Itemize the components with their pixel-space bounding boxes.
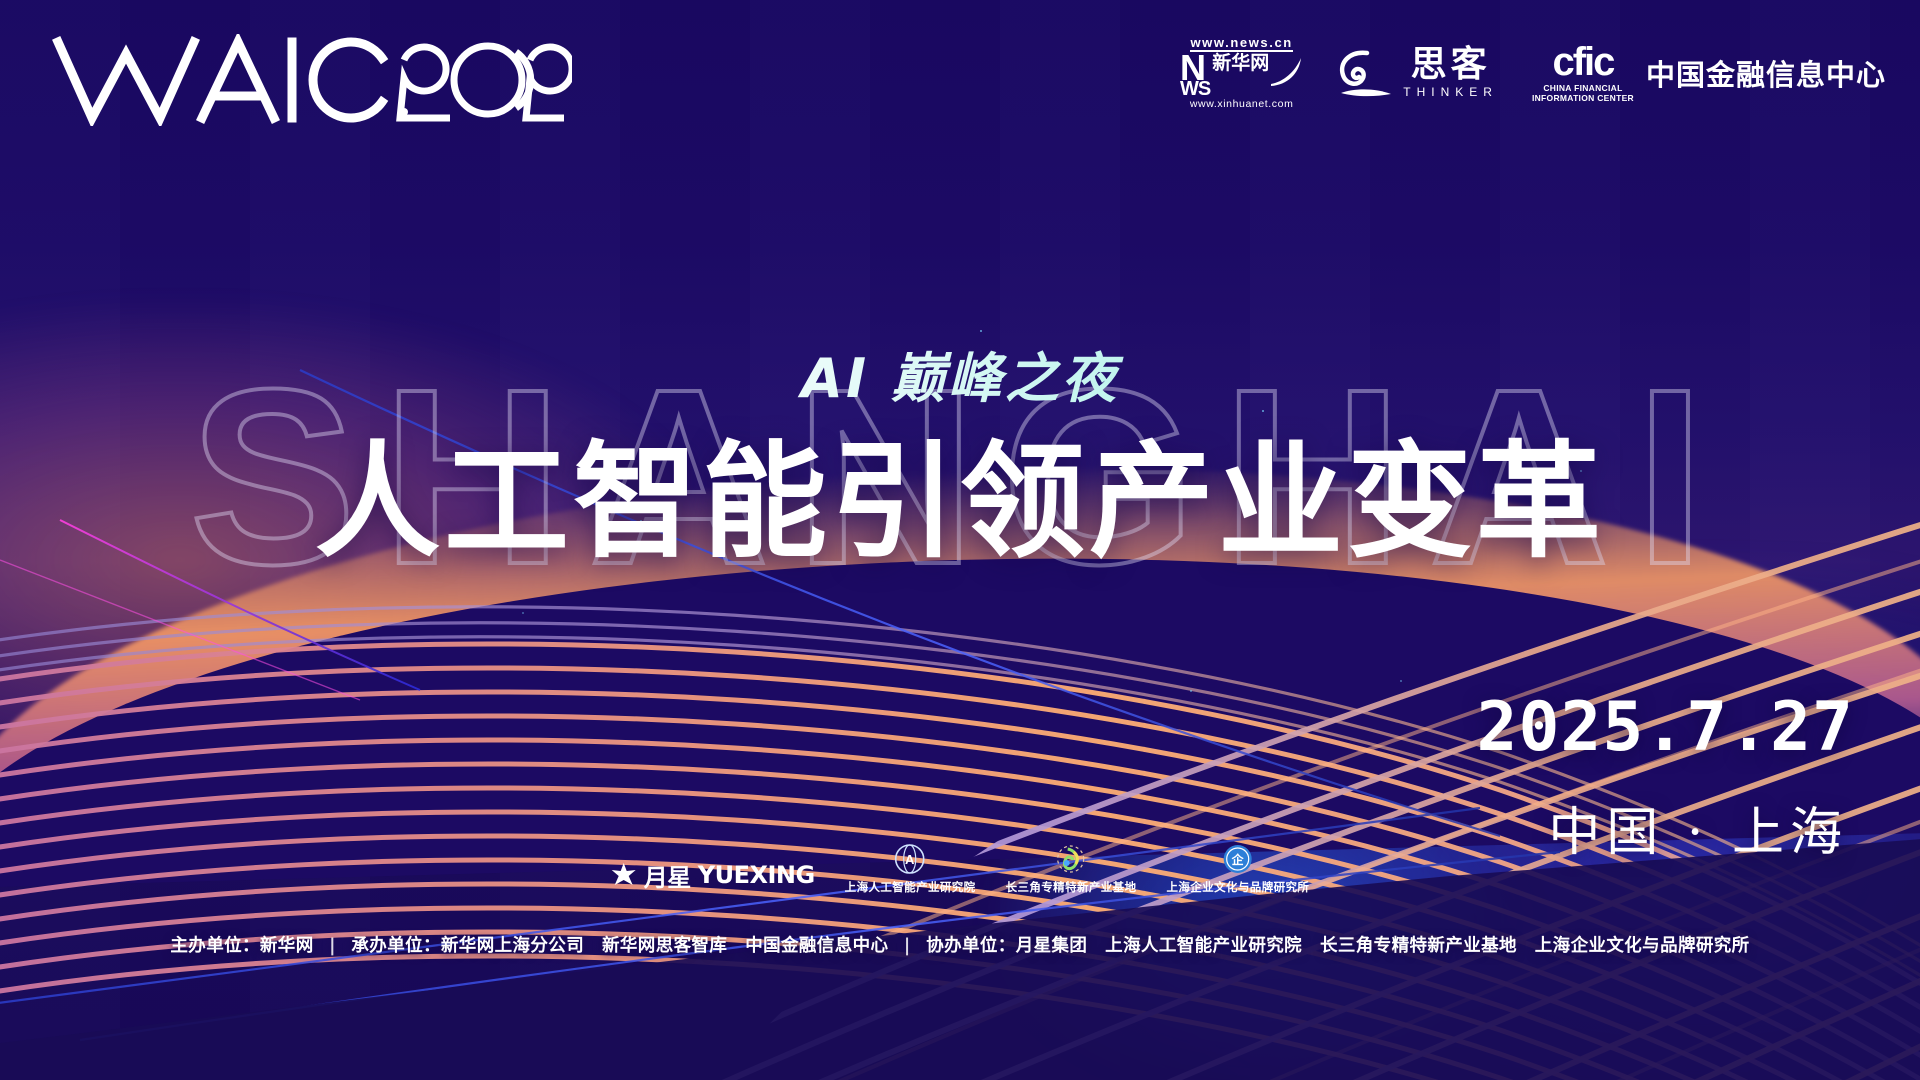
event-headline: 人工智能引领产业变革 [0,400,1920,581]
xinhua-mark-ws: WS [1180,81,1210,97]
event-city: 中国 · 上海 [1548,790,1848,865]
thinker-zh-name: 思客 [1411,47,1491,83]
credit-host-value: 新华网 [260,936,314,956]
ai-globe-icon: A [894,843,926,875]
cfic-wordmark: cfic [1552,42,1613,82]
event-date: 2025.7.27 [1477,688,1854,767]
credit-coorganizer-label: 协办单位： [926,936,1016,956]
header-sponsor-logos: www.news.cn N WS 新华网 www.xinhuanet.com 思… [1180,36,1886,109]
partner-name-yangtze-delta-base: 长三角专精特新产业基地 [1006,879,1137,895]
credit-organizer-label: 承办单位： [351,936,441,956]
yuexing-mark-zh: 月星 [644,858,691,893]
partner-name-shanghai-ai-institute: 上海人工智能产业研究院 [845,879,976,895]
delta-base-icon [1055,843,1087,875]
yuexing-mark-en: YUEXING [698,861,815,889]
xinhua-url-top: www.news.cn [1190,36,1292,52]
credit-coorganizer-values: 月星集团 上海人工智能产业研究院 长三角专精特新产业基地 上海企业文化与品牌研究… [1016,936,1750,956]
cfic-en-line2: INFORMATION CENTER [1532,94,1634,104]
partner-logo-yuexing: 月星YUEXING [611,858,815,895]
sponsor-logo-xinhua-news: www.news.cn N WS 新华网 www.xinhuanet.com [1180,36,1303,109]
poster-canvas: SHANGHAI www.news.cn N [0,0,1920,1080]
partner-logo-strip: 月星YUEXING A 上海人工智能产业研究院 [611,842,1310,895]
sponsor-logo-thinker: 思客 THINKER [1337,47,1498,99]
credit-separator-1: | [329,936,336,956]
xinhua-zh-name: 新华网 [1212,54,1269,73]
partner-logo-yangtze-delta-base: 长三角专精特新产业基地 [1006,842,1137,895]
cfic-zh-name: 中国金融信息中心 [1646,52,1886,94]
sponsor-logo-cfic: cfic CHINA FINANCIAL INFORMATION CENTER … [1532,42,1886,104]
xinhua-url-bottom: www.xinhuanet.com [1190,99,1294,110]
credit-separator-2: | [904,936,911,956]
thinker-en-name: THINKER [1403,86,1498,98]
footer-credits: 主办单位：新华网 | 承办单位：新华网上海分公司 新华网思客智库 中国金融信息中… [0,932,1920,957]
brush-spiral-icon [1337,47,1393,99]
svg-text:企: 企 [1231,852,1245,867]
yuexing-star-icon [611,862,637,888]
credit-host-label: 主办单位： [170,936,260,956]
brand-institute-seal-icon: 企 [1222,843,1254,875]
svg-text:A: A [905,852,915,867]
partner-logo-brand-institute: 企 上海企业文化与品牌研究所 [1166,842,1309,895]
xinhua-swoosh-icon [1269,54,1303,88]
partner-name-brand-institute: 上海企业文化与品牌研究所 [1166,879,1309,895]
credit-organizer-values: 新华网上海分公司 新华网思客智库 中国金融信息中心 [441,936,889,956]
waic-2025-logo [52,34,572,126]
partner-logo-shanghai-ai-institute: A 上海人工智能产业研究院 [845,842,976,895]
